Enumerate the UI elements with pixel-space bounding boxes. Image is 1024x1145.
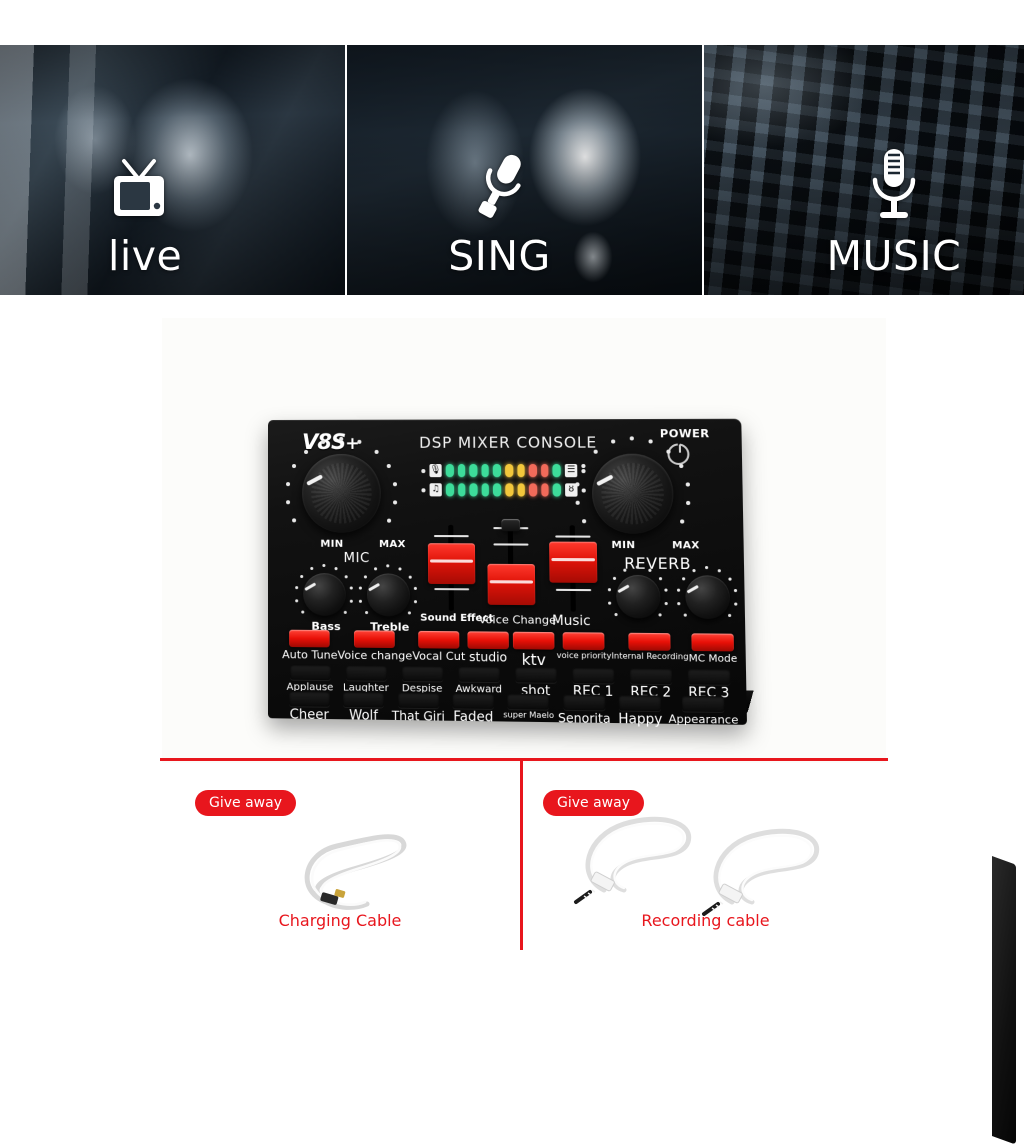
device-button-cheer[interactable] xyxy=(289,691,330,707)
treble-knob[interactable] xyxy=(367,573,410,616)
device-button-label: Happy xyxy=(618,713,662,729)
menu-icon: ☰ xyxy=(565,464,578,477)
led-segment xyxy=(493,483,501,496)
device-button-awkward[interactable] xyxy=(458,666,499,682)
aux-knob-one[interactable] xyxy=(616,575,661,619)
aux-knob-two[interactable] xyxy=(685,575,730,619)
led-segment xyxy=(505,464,513,477)
device-button-mc-mode[interactable] xyxy=(691,633,734,651)
microphone-icon: 🎙 xyxy=(429,464,442,477)
button-cell: studio xyxy=(465,631,511,668)
button-cell: Faded xyxy=(446,693,501,726)
meter-dot xyxy=(421,469,425,473)
button-cell: Senorita xyxy=(556,694,612,727)
device-button-label: super Maelo xyxy=(503,711,554,721)
fader-sound-effect[interactable] xyxy=(428,525,476,611)
led-segment xyxy=(446,464,454,477)
button-cell: Appearance xyxy=(668,696,739,730)
fader-music[interactable] xyxy=(549,525,598,612)
button-cell: Cheer xyxy=(282,691,336,724)
mic-knob-min-label: MIN xyxy=(320,539,343,550)
bluetooth-icon: ȣ xyxy=(565,483,578,496)
device-button-label: Appearance xyxy=(668,713,738,727)
led-segment xyxy=(470,483,478,496)
device-button-studio[interactable] xyxy=(467,631,508,649)
banner-panel-live: live xyxy=(0,45,345,295)
fader-label-music: Music xyxy=(552,614,591,630)
giveaway-badge-left: Give away xyxy=(195,790,296,816)
device-button-senorita[interactable] xyxy=(563,694,605,710)
banner-panel-music: MUSIC xyxy=(702,45,1024,295)
device-button-label: Cheer xyxy=(290,708,329,723)
button-cell: Internal Recording xyxy=(611,633,689,671)
aux-recording-cable-icon xyxy=(568,798,848,923)
button-cell: MC Mode xyxy=(688,633,737,670)
device-button-voice-priority[interactable] xyxy=(563,632,605,650)
led-segment xyxy=(541,483,549,496)
led-meter-row: 🎙☰ xyxy=(421,464,585,477)
device-button-rec-3[interactable] xyxy=(687,669,730,685)
device-button-label: voice priority xyxy=(557,652,612,662)
device-button-faded[interactable] xyxy=(452,693,493,709)
led-segment xyxy=(517,483,525,496)
meter-dot xyxy=(582,469,586,473)
button-cell: Auto Tune xyxy=(282,630,338,667)
led-segment xyxy=(493,464,501,477)
led-segment xyxy=(458,483,466,496)
studio-microphone-icon xyxy=(865,147,923,228)
led-level-meter: 🎙☰♫ȣ xyxy=(421,464,586,503)
giveaway-item-recording-cable: Give away Recording cable xyxy=(523,758,888,968)
banner-panel-sing: SING xyxy=(345,45,702,295)
reverb-volume-knob[interactable] xyxy=(592,454,674,534)
device-button-label: Wolf xyxy=(349,709,378,724)
led-segment xyxy=(458,464,466,477)
device-button-label: Senorita xyxy=(558,712,611,726)
button-cell: voice priority xyxy=(556,632,611,669)
device-button-label: Vocal Cut xyxy=(412,650,465,663)
device-button-label: That Giri xyxy=(392,710,445,724)
hero-banner: live SING xyxy=(0,45,1024,295)
device-button-wolf[interactable] xyxy=(343,692,384,708)
reverb-knob-min-label: MIN xyxy=(611,540,635,551)
mic-volume-knob[interactable] xyxy=(302,454,381,533)
button-cell: Happy xyxy=(612,695,669,728)
device-button-label: Faded xyxy=(453,710,493,725)
led-segment xyxy=(481,483,489,496)
meter-dot xyxy=(421,488,425,492)
device-button-label: Auto Tune xyxy=(282,649,337,662)
device-button-rec-1[interactable] xyxy=(572,667,614,683)
device-button-label: Internal Recording xyxy=(611,652,688,662)
button-cell: Wolf xyxy=(336,691,391,724)
meter-dot xyxy=(582,488,586,492)
device-button-appearance[interactable] xyxy=(682,696,725,712)
button-row-extras: CheerWolfThat GiriFadedsuper MaeloSenori… xyxy=(282,691,738,729)
device-button-despise[interactable] xyxy=(402,666,443,682)
giveaway-caption-left: Charging Cable xyxy=(160,911,520,930)
button-cell: Voice change xyxy=(338,630,413,667)
led-segment xyxy=(505,483,513,496)
banner-caption-live: live xyxy=(108,236,182,277)
led-meter-row: ♫ȣ xyxy=(421,483,585,496)
led-segment xyxy=(469,464,477,477)
mic-knob-max-label: MAX xyxy=(379,539,406,550)
fader-voice-change[interactable] xyxy=(487,519,535,605)
bass-knob[interactable] xyxy=(303,573,346,616)
device-top-face: V8S+ DSP MIXER CONSOLE POWER MIN MAX MIC… xyxy=(268,419,747,725)
button-cell: That Giri xyxy=(391,692,446,725)
giveaway-item-charging-cable: Give away Charging Cable xyxy=(160,758,520,968)
device-button-shot[interactable] xyxy=(515,667,557,683)
tv-icon xyxy=(108,157,170,228)
music-note-icon: ♫ xyxy=(429,483,442,496)
device-button-vocal-cut[interactable] xyxy=(418,631,459,649)
button-cell: ktv xyxy=(511,632,557,669)
handheld-microphone-icon xyxy=(470,149,530,228)
device-button-auto-tune[interactable] xyxy=(290,630,330,648)
device-button-label: MC Mode xyxy=(688,653,737,665)
device-button-happy[interactable] xyxy=(619,695,661,711)
banner-caption-music: MUSIC xyxy=(827,236,962,277)
device-button-label: studio xyxy=(469,651,507,665)
led-segment xyxy=(517,464,525,477)
giveaway-caption-right: Recording cable xyxy=(523,911,888,930)
led-segment xyxy=(529,464,537,477)
led-segment xyxy=(553,464,561,477)
sound-card-device: V8S+ DSP MIXER CONSOLE POWER MIN MAX MIC… xyxy=(268,420,760,740)
device-button-that-giri[interactable] xyxy=(398,692,439,708)
device-button-super-maelo[interactable] xyxy=(508,694,550,710)
device-button-internal-recording[interactable] xyxy=(629,633,671,651)
led-segment xyxy=(553,483,561,496)
device-right-side xyxy=(992,856,1016,1145)
button-cell: super Maelo xyxy=(501,693,557,726)
giveaway-section: Give away Charging Cable Give away xyxy=(160,758,888,968)
reverb-knob-max-label: MAX xyxy=(672,540,700,551)
banner-caption-sing: SING xyxy=(448,236,551,277)
fader-label-voice-change: Voice Change xyxy=(479,613,557,627)
led-segment xyxy=(446,483,454,496)
led-segment xyxy=(541,464,549,477)
led-segment xyxy=(481,464,489,477)
device-button-rec-2[interactable] xyxy=(629,668,671,684)
device-button-ktv[interactable] xyxy=(513,632,555,650)
device-button-applause[interactable] xyxy=(290,664,331,680)
device-button-label: Voice change xyxy=(338,650,413,663)
button-cell: Vocal Cut xyxy=(412,631,465,668)
led-segment xyxy=(529,483,537,496)
device-button-laughter[interactable] xyxy=(345,665,386,681)
device-button-voice-change[interactable] xyxy=(354,630,395,648)
